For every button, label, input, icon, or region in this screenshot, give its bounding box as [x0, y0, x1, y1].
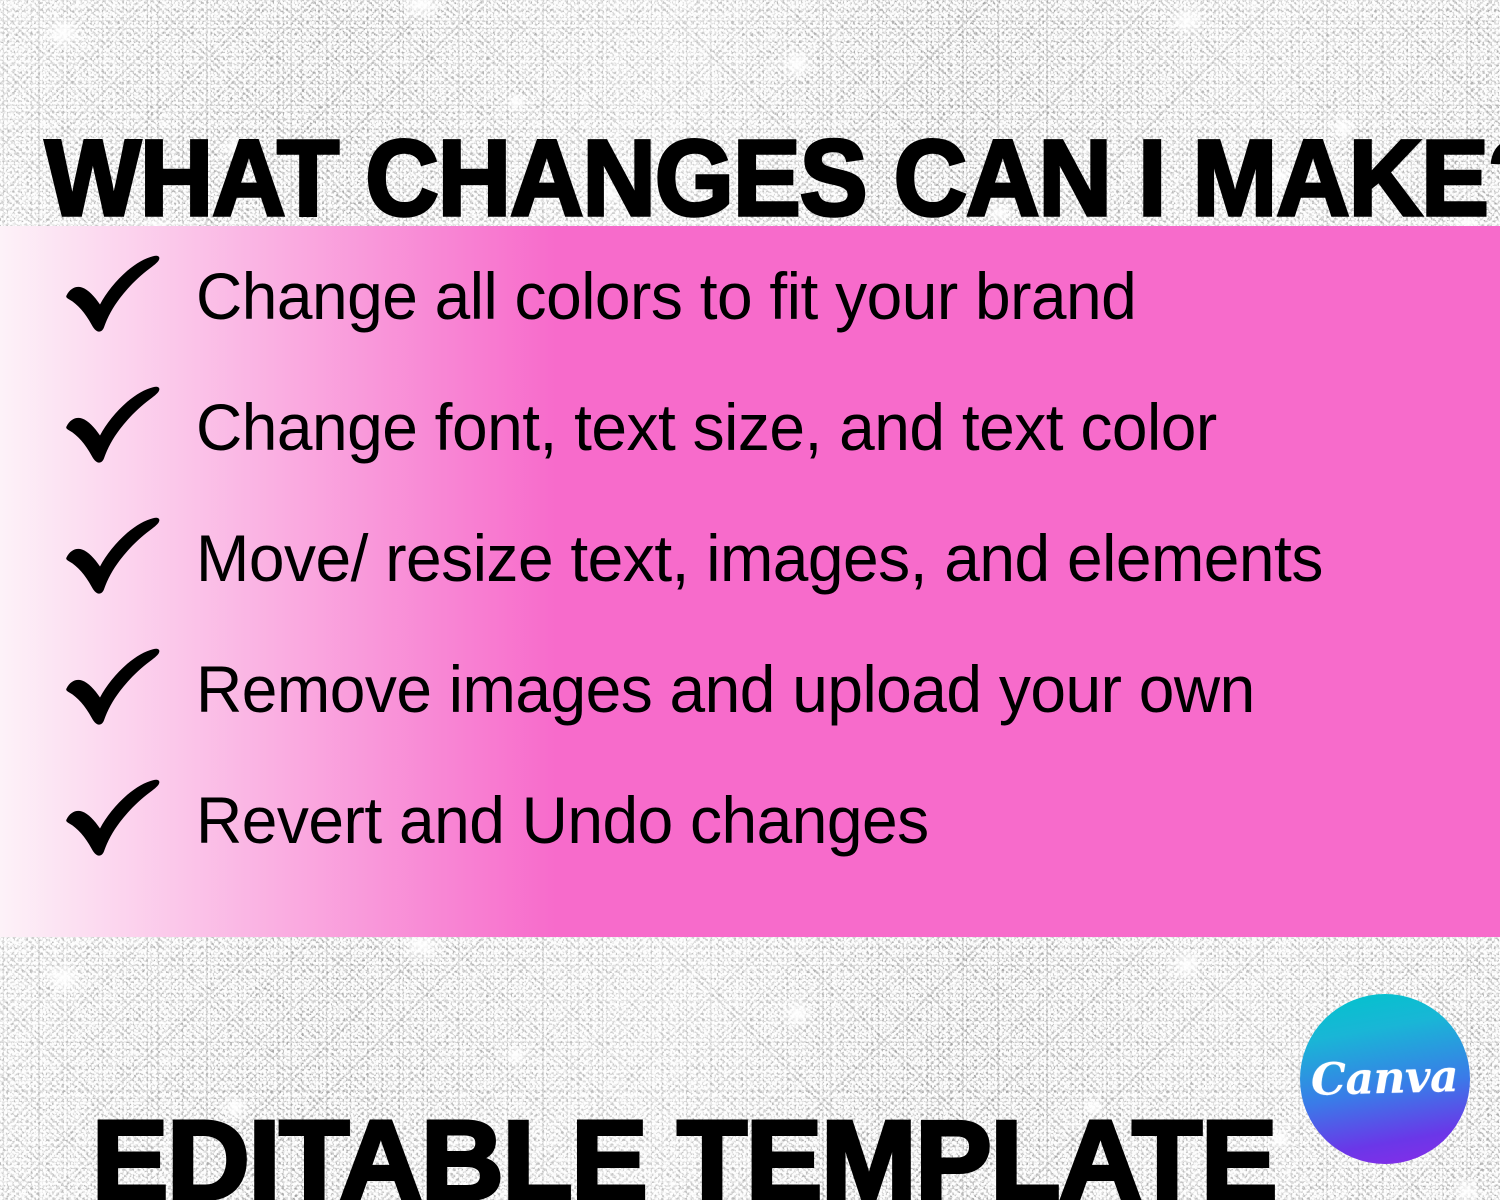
list-item-label: Revert and Undo changes — [196, 787, 929, 853]
list-item-label: Change font, text size, and text color — [196, 394, 1217, 460]
brush-checkmark-icon — [60, 643, 162, 735]
list-item: Remove images and upload your own — [60, 637, 1287, 741]
feature-list-section: Change all colors to fit your brand Chan… — [0, 226, 1500, 937]
brush-checkmark-icon — [60, 774, 162, 866]
list-item: Revert and Undo changes — [60, 768, 951, 872]
list-item: Change all colors to fit your brand — [60, 244, 1165, 348]
list-item-label: Move/ resize text, images, and elements — [196, 525, 1323, 591]
footer-title: EDITABLE TEMPLATE — [92, 1105, 1276, 1200]
list-item: Move/ resize text, images, and elements — [60, 506, 1358, 610]
brush-checkmark-icon — [60, 512, 162, 604]
brush-checkmark-icon — [60, 381, 162, 473]
brush-checkmark-icon — [60, 250, 162, 342]
list-item-label: Change all colors to fit your brand — [196, 263, 1136, 329]
feature-checklist: Change all colors to fit your brand Chan… — [0, 226, 1500, 937]
promo-poster: WHAT CHANGES CAN I MAKE? Change all colo… — [0, 0, 1500, 1200]
page-title: WHAT CHANGES CAN I MAKE? — [45, 124, 1455, 232]
canva-wordmark: Canva — [1311, 1055, 1459, 1103]
list-item-label: Remove images and upload your own — [196, 656, 1255, 722]
list-item: Change font, text size, and text color — [60, 375, 1248, 479]
canva-logo-badge: Canva — [1300, 994, 1470, 1164]
